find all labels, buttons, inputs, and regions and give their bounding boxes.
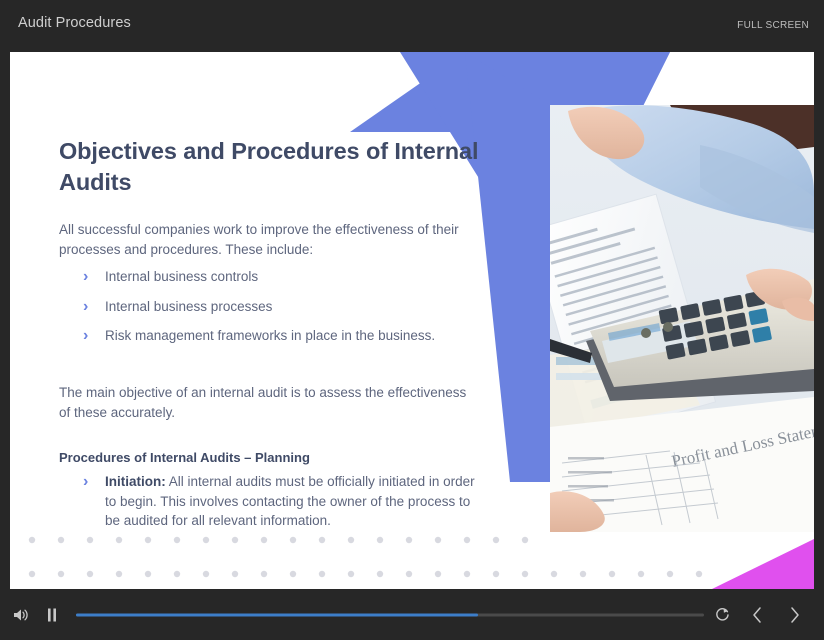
chevron-right-icon: › [83, 265, 88, 288]
spacer [59, 356, 479, 383]
slide-photo: Profit and Loss Statem [550, 105, 814, 532]
chevron-right-icon: › [83, 470, 88, 493]
chevron-right-icon [788, 605, 802, 625]
audit-photo-illustration: Profit and Loss Statem [550, 105, 814, 532]
procedures-subheading: Procedures of Internal Audits – Planning [59, 450, 479, 465]
progress-bar-fill [76, 613, 478, 616]
list-item: › Internal business processes [59, 297, 479, 317]
spacer [59, 423, 479, 450]
replay-icon [714, 606, 731, 623]
list-item-label: Internal business controls [105, 269, 258, 284]
chevron-left-icon [750, 605, 764, 625]
list-item: › Risk management frameworks in place in… [59, 326, 479, 346]
list-item-lead: Initiation: [105, 474, 166, 489]
top-bar: Audit Procedures FULL SCREEN [0, 0, 824, 48]
volume-button[interactable] [12, 606, 30, 624]
fullscreen-button[interactable]: FULL SCREEN [737, 20, 809, 31]
player-controls [0, 589, 824, 640]
previous-slide-button[interactable] [750, 605, 764, 625]
slide-title: Objectives and Procedures of Internal Au… [59, 136, 479, 199]
list-item-label: Risk management frameworks in place in t… [105, 328, 435, 343]
course-title: Audit Procedures [18, 15, 131, 31]
pause-button[interactable] [45, 607, 59, 623]
list-item-label: Internal business processes [105, 299, 272, 314]
slide-content: Objectives and Procedures of Internal Au… [59, 136, 479, 541]
objective-paragraph: The main objective of an internal audit … [59, 383, 479, 424]
chevron-right-icon: › [83, 295, 88, 318]
next-slide-button[interactable] [788, 605, 802, 625]
bullet-list: › Internal business controls › Internal … [59, 267, 479, 346]
slide-stage: Profit and Loss Statem [10, 52, 814, 589]
replay-button[interactable] [714, 606, 731, 623]
chevron-right-icon: › [83, 324, 88, 347]
volume-icon [12, 606, 30, 624]
list-item: › Initiation: All internal audits must b… [59, 472, 479, 531]
intro-paragraph: All successful companies work to improve… [59, 220, 479, 261]
list-item: › Internal business controls [59, 267, 479, 287]
pause-icon [45, 607, 59, 623]
procedure-bullet-list: › Initiation: All internal audits must b… [59, 472, 479, 531]
progress-bar[interactable] [76, 613, 704, 616]
